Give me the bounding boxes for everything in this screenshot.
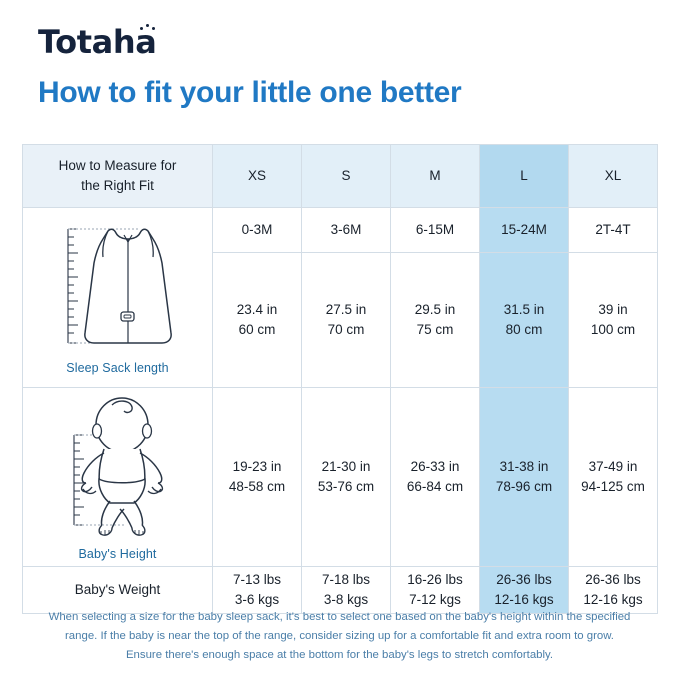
header-how-to-measure: How to Measure for the Right Fit: [23, 145, 213, 208]
length-s-cm: 70 cm: [302, 320, 390, 340]
height-s: 21-30 in 53-76 cm: [302, 388, 391, 567]
sleep-sack-icon: [38, 217, 198, 355]
height-xl-cm: 94-125 cm: [569, 477, 657, 497]
height-s-cm: 53-76 cm: [302, 477, 390, 497]
brand-logo: Totaha: [38, 26, 156, 58]
height-l: 31-38 in 78-96 cm: [480, 388, 569, 567]
header-size-m[interactable]: M: [391, 145, 480, 208]
table-row-baby-weight: Baby's Weight 7-13 lbs 3-6 kgs 7-18 lbs …: [23, 567, 658, 614]
table-row-baby-height: Baby's Height 19-23 in 48-58 cm 21-30 in…: [23, 388, 658, 567]
weight-xs: 7-13 lbs 3-6 kgs: [213, 567, 302, 614]
length-l-cm: 80 cm: [480, 320, 568, 340]
length-s: 27.5 in 70 cm: [302, 253, 391, 388]
baby-height-caption: Baby's Height: [78, 545, 156, 563]
length-xl: 39 in 100 cm: [569, 253, 658, 388]
weight-m-lbs: 16-26 lbs: [391, 570, 479, 590]
weight-xl-kgs: 12-16 kgs: [569, 590, 657, 610]
weight-l-kgs: 12-16 kgs: [480, 590, 568, 610]
weight-m: 16-26 lbs 7-12 kgs: [391, 567, 480, 614]
weight-xs-kgs: 3-6 kgs: [213, 590, 301, 610]
length-xl-cm: 100 cm: [569, 320, 657, 340]
height-xs-cm: 48-58 cm: [213, 477, 301, 497]
age-m: 6-15M: [391, 208, 480, 253]
length-l: 31.5 in 80 cm: [480, 253, 569, 388]
age-s: 3-6M: [302, 208, 391, 253]
length-xs: 23.4 in 60 cm: [213, 253, 302, 388]
length-m-cm: 75 cm: [391, 320, 479, 340]
weight-row-label: Baby's Weight: [23, 567, 213, 614]
length-m: 29.5 in 75 cm: [391, 253, 480, 388]
age-xl: 2T-4T: [569, 208, 658, 253]
header-size-l[interactable]: L: [480, 145, 569, 208]
table-row-age: Sleep Sack length 0-3M 3-6M 6-15M 15-24M…: [23, 208, 658, 253]
height-l-in: 31-38 in: [480, 457, 568, 477]
baby-icon: [38, 391, 198, 541]
height-m: 26-33 in 66-84 cm: [391, 388, 480, 567]
header-measure-line2: the Right Fit: [81, 178, 154, 193]
weight-s-kgs: 3-8 kgs: [302, 590, 390, 610]
page-title: How to fit your little one better: [38, 76, 461, 111]
weight-l: 26-36 lbs 12-16 kgs: [480, 567, 569, 614]
size-chart-table: How to Measure for the Right Fit XS S M …: [22, 144, 658, 614]
height-xs: 19-23 in 48-58 cm: [213, 388, 302, 567]
weight-m-kgs: 7-12 kgs: [391, 590, 479, 610]
length-xl-in: 39 in: [569, 300, 657, 320]
height-xl-in: 37-49 in: [569, 457, 657, 477]
illustration-sleep-sack-cell: Sleep Sack length: [23, 208, 213, 388]
height-xs-in: 19-23 in: [213, 457, 301, 477]
age-xs: 0-3M: [213, 208, 302, 253]
header-size-xl[interactable]: XL: [569, 145, 658, 208]
footnote: When selecting a size for the baby sleep…: [22, 608, 657, 664]
height-l-cm: 78-96 cm: [480, 477, 568, 497]
length-s-in: 27.5 in: [302, 300, 390, 320]
sleep-sack-illustration-box: Sleep Sack length: [23, 217, 212, 377]
weight-s: 7-18 lbs 3-8 kgs: [302, 567, 391, 614]
brand-name: Totah: [38, 23, 135, 61]
size-chart-table-wrapper: How to Measure for the Right Fit XS S M …: [22, 144, 657, 614]
illustration-baby-cell: Baby's Height: [23, 388, 213, 567]
height-m-cm: 66-84 cm: [391, 477, 479, 497]
header-size-xs[interactable]: XS: [213, 145, 302, 208]
weight-l-lbs: 26-36 lbs: [480, 570, 568, 590]
age-l: 15-24M: [480, 208, 569, 253]
footnote-line-1: When selecting a size for the baby sleep…: [22, 608, 657, 627]
length-xs-cm: 60 cm: [213, 320, 301, 340]
height-m-in: 26-33 in: [391, 457, 479, 477]
footnote-line-3: Ensure there's enough space at the botto…: [22, 646, 657, 665]
size-chart-page: Totaha How to fit your little one better…: [0, 0, 679, 679]
weight-s-lbs: 7-18 lbs: [302, 570, 390, 590]
weight-xs-lbs: 7-13 lbs: [213, 570, 301, 590]
footnote-line-2: range. If the baby is near the top of th…: [22, 627, 657, 646]
height-s-in: 21-30 in: [302, 457, 390, 477]
baby-illustration-box: Baby's Height: [23, 391, 212, 563]
length-xs-in: 23.4 in: [213, 300, 301, 320]
table-header-row: How to Measure for the Right Fit XS S M …: [23, 145, 658, 208]
header-size-s[interactable]: S: [302, 145, 391, 208]
header-measure-line1: How to Measure for: [59, 158, 177, 173]
weight-xl: 26-36 lbs 12-16 kgs: [569, 567, 658, 614]
length-l-in: 31.5 in: [480, 300, 568, 320]
sleep-sack-caption: Sleep Sack length: [66, 359, 168, 377]
length-m-in: 29.5 in: [391, 300, 479, 320]
weight-xl-lbs: 26-36 lbs: [569, 570, 657, 590]
height-xl: 37-49 in 94-125 cm: [569, 388, 658, 567]
